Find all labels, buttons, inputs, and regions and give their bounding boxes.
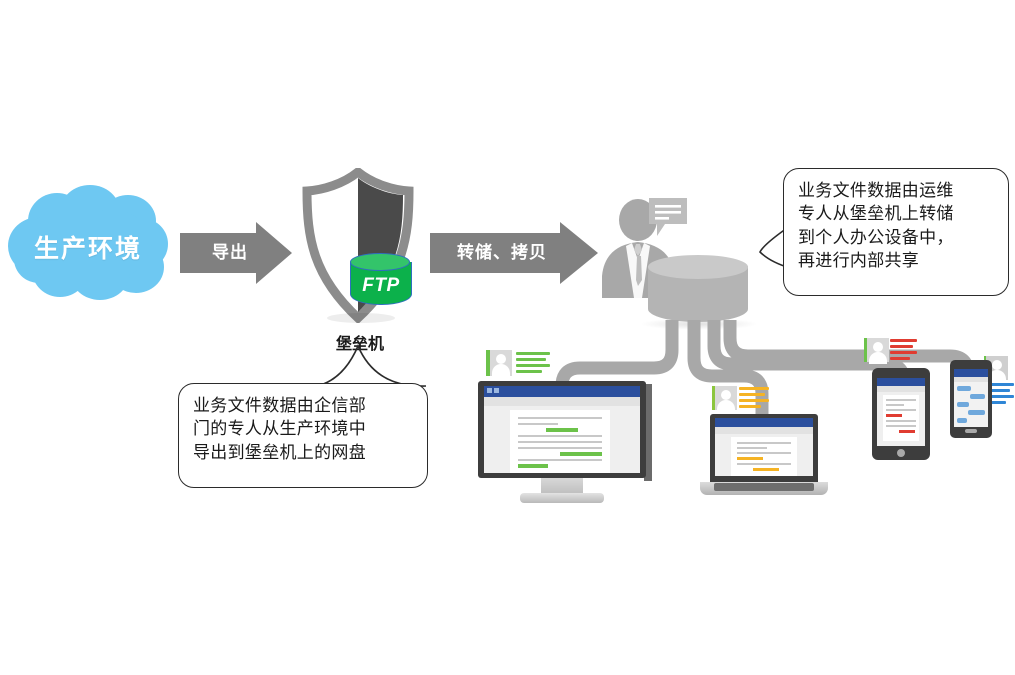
tablet-body [872,368,930,460]
tablet-home-button[interactable] [897,449,905,457]
phone-screen [954,369,988,427]
desktop-monitor [478,381,646,504]
chat-bubble-icon [645,196,691,240]
arrow-export-label: 导出 [194,238,266,263]
callout-right: 业务文件数据由运维 专人从堡垒机上转储 到个人办公设备中， 再进行内部共享 [783,168,1009,296]
monitor-base [520,493,604,503]
arrow-transfer-copy-label: 转储、拷贝 [440,238,564,263]
monitor-screen [484,386,640,473]
callout-line: 专人从堡垒机上转储 [798,202,994,225]
arrow-export: 导出 [180,222,292,284]
app-title-bar [954,369,988,377]
tablet [872,368,930,460]
callout-line: 业务文件数据由企信部 [193,394,413,417]
contact-card-desktop [486,350,552,376]
laptop-lid [710,414,818,482]
phone-home-button[interactable] [965,429,977,433]
smartphone [950,360,992,438]
callout-line: 再进行内部共享 [798,249,994,272]
contact-card-laptop [712,386,770,410]
laptop [700,414,828,502]
phone-body [950,360,992,438]
arrow-head [560,222,598,284]
arrow-transfer-copy: 转储、拷贝 [430,222,598,284]
monitor-bezel [478,381,646,478]
callout-line: 导出到堡垒机上的网盘 [193,441,413,464]
callout-left: 业务文件数据由企信部 门的专人从生产环境中 导出到堡垒机上的网盘 [178,383,428,488]
cylinder-top [350,253,410,271]
callout-line: 业务文件数据由运维 [798,179,994,202]
laptop-screen [715,418,813,476]
callout-left-text: 业务文件数据由企信部 门的专人从生产环境中 导出到堡垒机上的网盘 [179,384,427,474]
hub-top [648,255,748,279]
callout-line: 到个人办公设备中， [798,226,994,249]
callout-right-text: 业务文件数据由运维 专人从堡垒机上转储 到个人办公设备中， 再进行内部共享 [784,169,1008,283]
cloud-label: 生产环境 [8,229,168,265]
callout-line: 门的专人从生产环境中 [193,417,413,440]
tablet-screen [877,378,925,446]
app-title-bar [484,386,640,397]
app-title-bar [715,418,813,427]
app-title-bar [877,378,925,386]
laptop-keyboard [714,483,814,491]
diagram-canvas: 生产环境 导出 FTP 堡垒机 转储、拷贝 [0,0,1015,675]
contact-card-tablet [864,338,918,362]
